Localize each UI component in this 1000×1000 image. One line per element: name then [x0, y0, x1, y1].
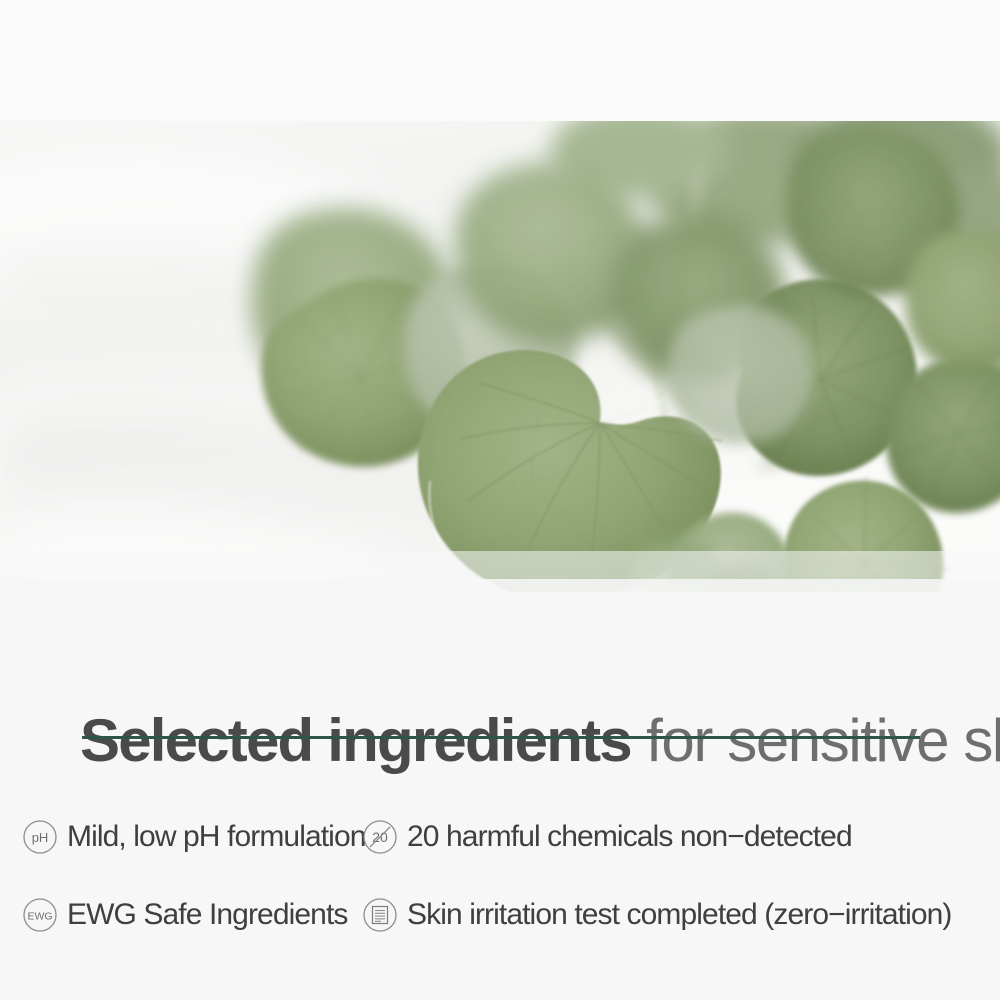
hero-photo-centella-leaves — [0, 121, 1000, 592]
twenty-prohibited-icon: 20 — [362, 819, 398, 855]
feature-item-skin-irritation-test: Skin irritation test completed (zero−irr… — [362, 897, 952, 933]
feature-label: Mild, low pH formulation — [67, 820, 366, 854]
ewg-circle-icon: EWG — [22, 897, 58, 933]
feature-item-ewg: EWG EWG Safe Ingredients — [0, 897, 362, 933]
page-title-strong: Selected ingredients — [80, 707, 631, 774]
title-underline-rule — [82, 736, 920, 739]
feature-row-2: EWG EWG Safe Ingredients — [0, 876, 1000, 954]
top-white-gutter — [0, 0, 1000, 121]
feature-label: 20 harmful chemicals non−detected — [407, 820, 852, 854]
svg-text:pH: pH — [32, 830, 49, 845]
feature-list: pH Mild, low pH formulation 20 20 harmfu… — [0, 798, 1000, 954]
feature-label: Skin irritation test completed (zero−irr… — [407, 898, 952, 932]
feature-item-ph: pH Mild, low pH formulation — [0, 819, 362, 855]
page-title: Selected ingredients for sensitive skin — [80, 707, 940, 775]
feature-item-20-chemicals: 20 20 harmful chemicals non−detected — [362, 819, 852, 855]
feature-row-1: pH Mild, low pH formulation 20 20 harmfu… — [0, 798, 1000, 876]
page-title-rest: for sensitive skin — [631, 707, 1000, 774]
test-report-icon — [362, 897, 398, 933]
svg-text:EWG: EWG — [27, 911, 52, 923]
ph-circle-icon: pH — [22, 819, 58, 855]
feature-label: EWG Safe Ingredients — [67, 898, 347, 932]
product-detail-page: Selected ingredients for sensitive skin … — [0, 0, 1000, 1000]
